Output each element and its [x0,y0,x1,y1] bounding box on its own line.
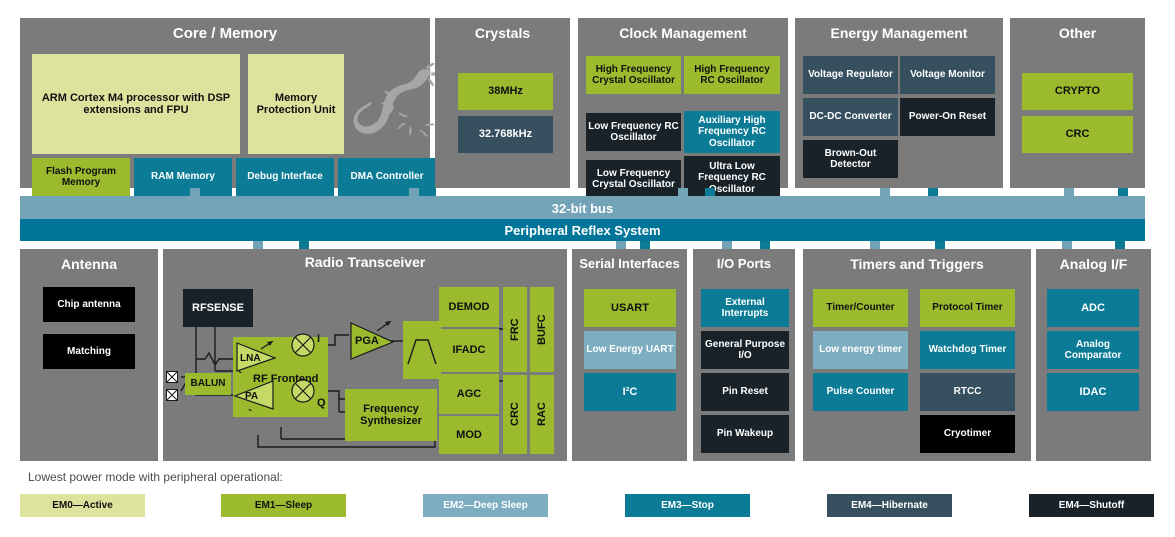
block-crc-other[interactable]: CRC [1022,116,1133,153]
block-voltage-monitor[interactable]: Voltage Monitor [900,56,995,94]
block-mod[interactable]: MOD [439,416,499,454]
block-crc-radio[interactable]: CRC [503,375,527,454]
block-brown-out-detector[interactable]: Brown-Out Detector [803,140,898,178]
panel-radio-transceiver: Radio Transceiver [163,249,567,461]
block-low-energy-timer[interactable]: Low energy timer [813,331,908,369]
block-watchdog-timer[interactable]: Watchdog Timer [920,331,1015,369]
panel-timers-and-triggers: Timers and Triggers Timer/Counter Protoc… [803,249,1031,461]
block-ulf-rc-oscillator[interactable]: Ultra Low Frequency RC Oscillator [684,156,780,200]
block-lf-rc-oscillator[interactable]: Low Frequency RC Oscillator [586,113,681,151]
block-rtcc[interactable]: RTCC [920,373,1015,411]
block-filter[interactable] [403,321,441,379]
antenna-pad-top [166,371,178,383]
block-memory-protection-unit[interactable]: Memory Protection Unit [248,54,344,154]
block-frc[interactable]: FRC [503,287,527,372]
block-i2c[interactable]: I²C [584,373,676,411]
block-voltage-regulator[interactable]: Voltage Regulator [803,56,898,94]
block-debug-interface[interactable]: Debug Interface [236,158,334,196]
legend-item-em4-hibernate[interactable]: EM4—Hibernate [827,494,952,517]
block-external-interrupts[interactable]: External Interrupts [701,289,789,327]
panel-title-serial-interfaces: Serial Interfaces [572,256,687,271]
block-pulse-counter[interactable]: Pulse Counter [813,373,908,411]
legend-item-em3[interactable]: EM3—Stop [625,494,750,517]
bus-32-bit-label: 32-bit bus [552,201,613,216]
bandpass-filter-icon [405,332,439,368]
mixer-q-icon [291,379,315,403]
block-idac[interactable]: IDAC [1047,373,1139,411]
block-rac[interactable]: RAC [530,375,554,454]
gecko-logo [352,58,444,154]
block-frequency-synthesizer[interactable]: Frequency Synthesizer [345,389,437,441]
block-chip-antenna[interactable]: Chip antenna [43,287,135,322]
panel-title-antenna: Antenna [20,256,158,272]
panel-title-other: Other [1010,25,1145,41]
panel-title-analog-if: Analog I/F [1036,256,1151,272]
mixer-q-label: Q [317,397,326,409]
legend-caption: Lowest power mode with peripheral operat… [28,470,283,484]
block-protocol-timer[interactable]: Protocol Timer [920,289,1015,327]
panel-other: Other CRYPTO CRC [1010,18,1145,188]
mixer-i-label: I [317,333,320,345]
block-32768khz[interactable]: 32.768kHz [458,116,553,153]
block-hf-crystal-oscillator[interactable]: High Frequency Crystal Oscillator [586,56,681,94]
panel-title-io-ports: I/O Ports [693,256,795,271]
block-flash-program-memory[interactable]: Flash Program Memory [32,158,130,196]
legend-item-em0[interactable]: EM0—Active [20,494,145,517]
block-pin-reset[interactable]: Pin Reset [701,373,789,411]
block-auxiliary-hf-rc-oscillator[interactable]: Auxiliary High Frequency RC Oscillator [684,111,780,153]
block-lf-crystal-oscillator[interactable]: Low Frequency Crystal Oscillator [586,160,681,198]
block-cryotimer[interactable]: Cryotimer [920,415,1015,453]
block-analog-comparator[interactable]: Analog Comparator [1047,331,1139,369]
bus-32-bit: 32-bit bus [20,196,1145,220]
block-adc[interactable]: ADC [1047,289,1139,327]
panel-analog-if: Analog I/F ADC Analog Comparator IDAC [1036,249,1151,461]
block-low-energy-uart[interactable]: Low Energy UART [584,331,676,369]
block-dc-dc-converter[interactable]: DC-DC Converter [803,98,898,136]
panel-title-clock-management: Clock Management [578,25,788,41]
block-hf-rc-oscillator[interactable]: High Frequency RC Oscillator [684,56,780,94]
block-demod[interactable]: DEMOD [439,287,499,327]
antenna-pad-bottom [166,389,178,401]
block-timer-counter[interactable]: Timer/Counter [813,289,908,327]
panel-energy-management: Energy Management Voltage Regulator Volt… [795,18,1003,188]
panel-title-radio-transceiver: Radio Transceiver [163,254,567,270]
panel-title-energy-management: Energy Management [795,25,1003,41]
panel-clock-management: Clock Management High Frequency Crystal … [578,18,788,188]
panel-crystals: Crystals 38MHz 32.768kHz [435,18,570,188]
block-pin-wakeup[interactable]: Pin Wakeup [701,415,789,453]
panel-serial-interfaces: Serial Interfaces USART Low Energy UART … [572,249,687,461]
block-38mhz[interactable]: 38MHz [458,73,553,110]
block-bufc[interactable]: BUFC [530,287,554,372]
lna-label: LNA [240,353,261,364]
legend-item-em1[interactable]: EM1—Sleep [221,494,346,517]
mixer-i-icon [291,333,315,357]
block-ram-memory[interactable]: RAM Memory [134,158,232,196]
block-power-on-reset[interactable]: Power-On Reset [900,98,995,136]
block-matching[interactable]: Matching [43,334,135,369]
block-usart[interactable]: USART [584,289,676,327]
pga-label: PGA [355,335,379,347]
legend-item-em4-shutoff[interactable]: EM4—Shutoff [1029,494,1154,517]
block-crypto[interactable]: CRYPTO [1022,73,1133,110]
panel-title-core-memory: Core / Memory [20,25,430,42]
block-general-purpose-io[interactable]: General Purpose I/O [701,331,789,369]
panel-core-memory: Core / Memory ARM Cortex M4 processor wi… [20,18,430,188]
bus-peripheral-reflex-system: Peripheral Reflex System [20,219,1145,241]
panel-title-crystals: Crystals [435,25,570,41]
prs-label: Peripheral Reflex System [504,223,660,238]
legend-item-em2[interactable]: EM2—Deep Sleep [423,494,548,517]
block-agc[interactable]: AGC [439,374,499,414]
block-rfsense[interactable]: RFSENSE [183,289,253,327]
panel-antenna: Antenna Chip antenna Matching [20,249,158,461]
panel-io-ports: I/O Ports External Interrupts General Pu… [693,249,795,461]
block-arm-cortex-m4[interactable]: ARM Cortex M4 processor with DSP extensi… [32,54,240,154]
panel-title-timers-and-triggers: Timers and Triggers [803,256,1031,272]
block-balun[interactable]: BALUN [185,373,231,395]
block-ifadc[interactable]: IFADC [439,329,499,372]
block-dma-controller[interactable]: DMA Controller [338,158,436,196]
pa-label: PA [245,391,258,402]
